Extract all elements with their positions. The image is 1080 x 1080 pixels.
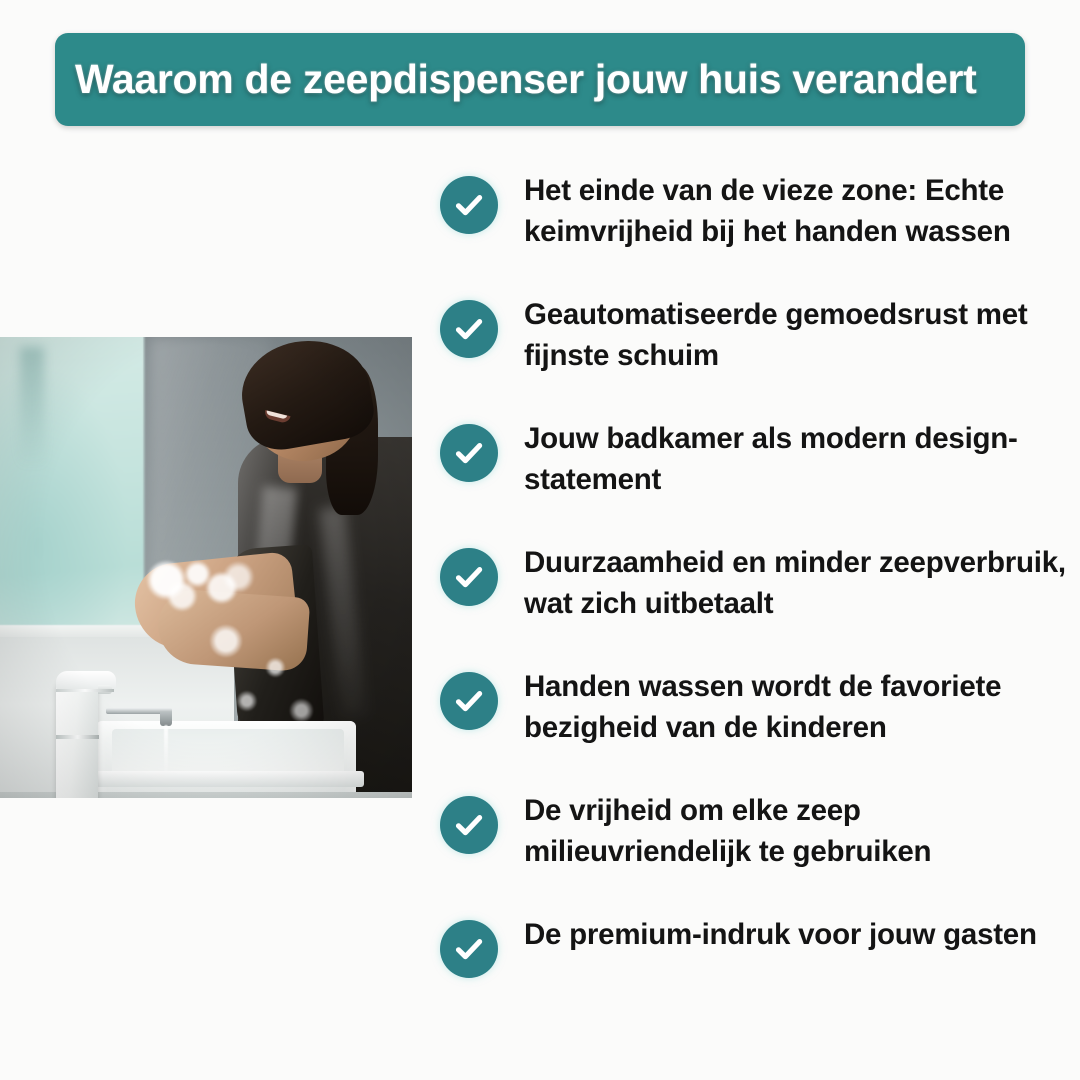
list-item-label: Jouw badkamer als modern design-statemen…	[524, 416, 1070, 500]
check-icon	[440, 548, 498, 606]
photo-faucet-spout	[160, 712, 172, 726]
photo-soap-dispenser-ring-bottom	[56, 735, 99, 739]
check-icon	[440, 300, 498, 358]
photo-soap-dispenser-ring-top	[56, 689, 114, 692]
list-item-label: Handen wassen wordt de favoriete bezighe…	[524, 664, 1070, 748]
check-icon	[440, 796, 498, 854]
list-item-label: Duurzaamheid en minder zeepverbruik, wat…	[524, 540, 1070, 624]
photo-window-smudge	[20, 347, 44, 467]
list-item: Jouw badkamer als modern design-statemen…	[440, 416, 1070, 500]
check-icon	[440, 424, 498, 482]
photo-soap-foam	[140, 559, 260, 619]
list-item: De vrijheid om elke zeep milieuvriendeli…	[440, 788, 1070, 872]
list-item-label: Het einde van de vieze zone: Echte keimv…	[524, 168, 1070, 252]
list-item: De premium-indruk voor jouw gasten	[440, 912, 1070, 978]
list-item: Duurzaamheid en minder zeepverbruik, wat…	[440, 540, 1070, 624]
photo-sink-rim	[96, 771, 364, 787]
header-banner: Waarom de zeepdispenser jouw huis verand…	[55, 33, 1025, 126]
product-photo	[0, 337, 412, 798]
list-item: Geautomatiseerde gemoedsrust met fijnste…	[440, 292, 1070, 376]
list-item: Het einde van de vieze zone: Echte keimv…	[440, 168, 1070, 252]
check-icon	[440, 176, 498, 234]
page-title: Waarom de zeepdispenser jouw huis verand…	[55, 56, 977, 103]
check-icon	[440, 920, 498, 978]
list-item-label: De premium-indruk voor jouw gasten	[524, 912, 1037, 955]
list-item-label: De vrijheid om elke zeep milieuvriendeli…	[524, 788, 1070, 872]
photo-water-droplets	[200, 617, 330, 737]
list-item-label: Geautomatiseerde gemoedsrust met fijnste…	[524, 292, 1070, 376]
check-icon	[440, 672, 498, 730]
benefits-list: Het einde van de vieze zone: Echte keimv…	[440, 168, 1070, 978]
list-item: Handen wassen wordt de favoriete bezighe…	[440, 664, 1070, 748]
